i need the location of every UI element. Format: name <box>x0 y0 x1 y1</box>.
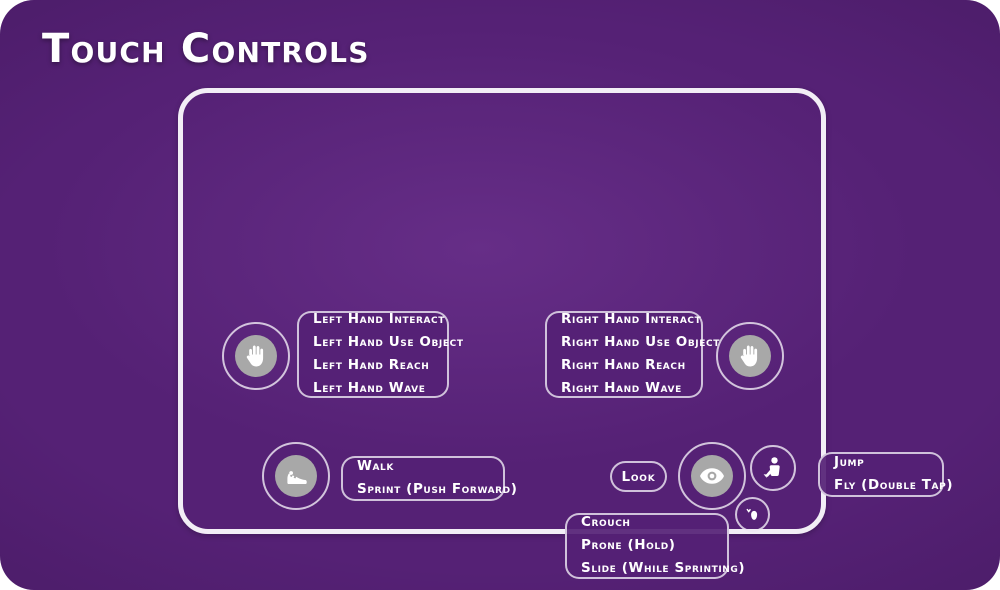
right-hand-actions: Right Hand Interact Right Hand Use Objec… <box>545 311 703 398</box>
left-hand-actions: Left Hand Interact Left Hand Use Object … <box>297 311 449 398</box>
eye-icon <box>699 467 725 485</box>
page-title: Touch Controls <box>42 26 370 72</box>
action-row: Slide (While Sprinting) <box>581 557 713 580</box>
action-row: Right Hand Wave <box>561 377 687 400</box>
action-row: Walk <box>357 455 489 478</box>
right-hand-button[interactable] <box>729 335 771 377</box>
action-row: Left Hand Reach <box>313 354 433 377</box>
action-row: Right Hand Reach <box>561 354 687 377</box>
hand-icon <box>245 344 267 368</box>
look-label: Look <box>610 461 667 492</box>
look-button[interactable] <box>691 455 733 497</box>
left-hand-button[interactable] <box>235 335 277 377</box>
look-label-text: Look <box>621 469 655 485</box>
jump-button[interactable] <box>754 449 792 487</box>
crouch-actions: Crouch Prone (Hold) Slide (While Sprinti… <box>565 513 729 579</box>
movement-actions: Walk Sprint (Push Forward) <box>341 456 505 501</box>
crouch-button[interactable] <box>738 500 767 529</box>
hand-icon <box>739 344 761 368</box>
action-row: Right Hand Interact <box>561 308 687 331</box>
action-row: Jump <box>834 451 928 474</box>
action-row: Left Hand Interact <box>313 308 433 331</box>
jump-actions: Jump Fly (Double Tap) <box>818 452 944 497</box>
action-row: Left Hand Wave <box>313 377 433 400</box>
action-row: Right Hand Use Object <box>561 331 687 354</box>
jump-person-icon <box>760 455 786 481</box>
action-row: Prone (Hold) <box>581 534 713 557</box>
shoe-icon <box>284 466 308 486</box>
action-row: Fly (Double Tap) <box>834 474 928 497</box>
action-row: Sprint (Push Forward) <box>357 478 489 501</box>
touch-controls-screen: Touch Controls Left Hand Interact Left H… <box>0 0 1000 590</box>
action-row: Left Hand Use Object <box>313 331 433 354</box>
movement-button[interactable] <box>275 455 317 497</box>
crouch-person-icon <box>743 505 763 525</box>
action-row: Crouch <box>581 511 713 534</box>
